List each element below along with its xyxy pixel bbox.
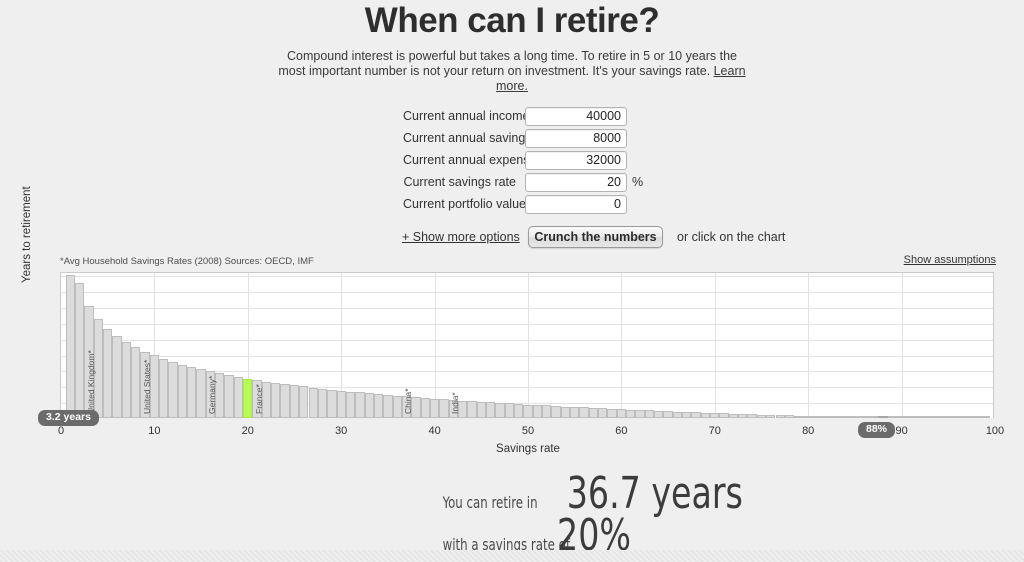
form-row: Current savings rate% [403, 172, 643, 192]
chart-bar[interactable] [271, 383, 280, 418]
chart-bar[interactable] [495, 403, 504, 418]
chart-bar[interactable] [196, 369, 205, 418]
gridline-horizontal [61, 340, 993, 341]
gridline-horizontal [61, 324, 993, 325]
chart-bar[interactable] [374, 394, 383, 418]
intro-text: Compound interest is powerful but takes … [278, 49, 737, 78]
x-tick-label: 10 [134, 425, 174, 437]
chart-bar[interactable] [103, 329, 112, 418]
chart-bar[interactable]: Germany* [215, 373, 224, 418]
gridline-vertical [902, 273, 903, 418]
chart-bar[interactable] [66, 275, 75, 418]
chart-bar[interactable] [916, 416, 925, 418]
result-line-years: You can retire in 36.7 years [432, 473, 1024, 515]
chart-bar[interactable] [878, 416, 887, 418]
chart-bar[interactable]: United States* [150, 355, 159, 418]
gridline-vertical [621, 273, 622, 418]
chart-bar[interactable] [598, 408, 607, 418]
bottom-strip [0, 550, 1024, 562]
x-tick-label: 20 [228, 425, 268, 437]
chart-bar[interactable] [972, 416, 981, 418]
field-input[interactable] [525, 107, 627, 126]
bar-country-label: United Kingdom* [87, 350, 96, 414]
bar-country-label: India* [451, 392, 460, 414]
gridline-horizontal [61, 308, 993, 309]
chart-bar[interactable] [822, 416, 831, 418]
selected-value-badge: 3.2 years [38, 410, 99, 426]
x-tick-label: 60 [601, 425, 641, 437]
chart-bar[interactable] [589, 408, 598, 418]
x-tick-label: 100 [975, 425, 1015, 437]
chart-bar[interactable] [224, 375, 233, 418]
hovered-rate-badge: 88% [858, 422, 895, 438]
form-row: Current annual income [403, 106, 643, 126]
chart-bar[interactable] [131, 347, 140, 418]
chart-bar[interactable] [934, 416, 943, 418]
chart-bar[interactable] [318, 389, 327, 418]
bar-country-label: Germany* [208, 376, 217, 414]
field-label: Current savings rate [403, 175, 525, 189]
chart-bar[interactable] [719, 413, 728, 418]
chart-bar[interactable] [523, 405, 532, 418]
chart-bar[interactable] [168, 362, 177, 418]
chart-bar[interactable] [486, 402, 495, 418]
field-input[interactable] [525, 195, 627, 214]
chart-bar[interactable] [776, 415, 785, 418]
x-tick-label: 80 [788, 425, 828, 437]
chart-bar[interactable] [365, 393, 374, 418]
chart-bar[interactable] [869, 416, 878, 418]
chart-bar[interactable] [159, 359, 168, 418]
field-label: Current portfolio value [403, 197, 525, 211]
chart-bar[interactable] [841, 416, 850, 418]
chart-bar[interactable] [346, 392, 355, 419]
field-label: Current annual expenses [403, 153, 525, 167]
chart-bar[interactable] [290, 385, 299, 418]
chart-source-note: *Avg Household Savings Rates (2008) Sour… [60, 256, 314, 267]
chart-bar[interactable] [337, 391, 346, 418]
retirement-calculator-form: Current annual incomeCurrent annual savi… [0, 106, 1024, 248]
chart-bar[interactable] [663, 411, 672, 418]
bar-country-label: China* [404, 388, 413, 414]
chart-bar[interactable] [112, 336, 121, 418]
chart-bar[interactable] [383, 395, 392, 418]
result-summary: You can retire in 36.7 years with a savi… [0, 473, 1024, 557]
chart-bar[interactable] [794, 416, 803, 418]
chart-bar[interactable] [505, 403, 514, 418]
x-tick-label: 40 [415, 425, 455, 437]
chart-bar[interactable] [729, 414, 738, 418]
field-input[interactable] [525, 151, 627, 170]
chart-bar[interactable] [925, 416, 934, 418]
chart-bar[interactable] [804, 416, 813, 418]
chart-bar[interactable] [542, 405, 551, 418]
chart-bar[interactable] [654, 411, 663, 418]
chart-bar[interactable] [832, 416, 841, 418]
chart-bar[interactable] [785, 415, 794, 418]
show-more-options-link[interactable]: + Show more options [402, 230, 517, 244]
chart-bar[interactable] [187, 367, 196, 418]
chart-bar[interactable] [888, 416, 897, 418]
form-row: Current annual savings [403, 128, 643, 148]
x-tick-label: 0 [41, 425, 81, 437]
x-tick-label: 70 [695, 425, 735, 437]
form-row: Current annual expenses [403, 150, 643, 170]
result-prefix-retire-in: You can retire in [443, 493, 540, 512]
x-tick-label: 30 [321, 425, 361, 437]
chart-bar[interactable] [691, 412, 700, 418]
bar-country-label: France* [255, 384, 264, 414]
chart-hint-text: or click on the chart [677, 230, 785, 244]
form-row: Current portfolio value [403, 194, 643, 214]
chart-bar[interactable] [280, 384, 289, 418]
gridline-horizontal [61, 356, 993, 357]
x-axis-title: Savings rate [61, 443, 995, 455]
chart-bar[interactable] [607, 409, 616, 418]
chart-bar[interactable] [243, 379, 252, 419]
chart-bar[interactable] [551, 406, 560, 418]
chart-bar[interactable] [561, 407, 570, 418]
chart-bar[interactable] [533, 405, 542, 418]
chart-bar[interactable]: India* [458, 401, 467, 418]
percent-sign: % [627, 175, 643, 189]
field-input[interactable] [525, 129, 627, 148]
chart-bar[interactable]: United Kingdom* [94, 319, 103, 418]
chart-bar[interactable] [514, 404, 523, 418]
savings-rate-chart[interactable]: *Avg Household Savings Rates (2008) Sour… [0, 250, 1024, 450]
chart-bar[interactable] [234, 377, 243, 418]
chart-bar[interactable] [421, 398, 430, 418]
chart-bar[interactable] [953, 416, 962, 418]
chart-bar[interactable] [860, 416, 869, 418]
gridline-horizontal [61, 292, 993, 293]
chart-bar[interactable] [467, 401, 476, 418]
chart-bar[interactable] [635, 410, 644, 418]
chart-plot-area[interactable]: United Kingdom*United States*Germany*Fra… [60, 272, 994, 418]
chart-bar[interactable] [981, 416, 990, 418]
chart-bar[interactable] [75, 283, 84, 418]
form-actions: + Show more options Crunch the numbers o… [402, 226, 785, 248]
chart-bar[interactable] [122, 342, 131, 418]
intro-paragraph: Compound interest is powerful but takes … [277, 49, 747, 94]
chart-bar[interactable] [897, 416, 906, 418]
gridline-vertical [435, 273, 436, 418]
chart-bar[interactable] [327, 390, 336, 418]
chart-bar[interactable] [439, 399, 448, 418]
chart-bar[interactable] [393, 396, 402, 418]
chart-bar[interactable] [757, 415, 766, 418]
chart-bar[interactable] [477, 402, 486, 418]
chart-bar[interactable] [626, 410, 635, 418]
gridline-vertical [528, 273, 529, 418]
chart-bar[interactable] [355, 392, 364, 418]
chart-bar[interactable] [962, 416, 971, 418]
chart-bar[interactable] [617, 409, 626, 418]
show-assumptions-link[interactable]: Show assumptions [904, 254, 996, 266]
chart-bar[interactable] [701, 413, 710, 418]
gridline-horizontal [61, 276, 993, 277]
chart-bar[interactable] [747, 414, 756, 418]
chart-bar[interactable] [178, 365, 187, 418]
chart-bar[interactable] [579, 407, 588, 418]
crunch-the-numbers-button[interactable]: Crunch the numbers [528, 226, 663, 248]
chart-bar[interactable] [738, 414, 747, 418]
chart-bar[interactable] [813, 416, 822, 418]
chart-bar[interactable] [673, 412, 682, 419]
form-fields: Current annual incomeCurrent annual savi… [403, 106, 643, 216]
field-input[interactable] [525, 173, 627, 192]
bar-country-label: United States* [143, 360, 152, 414]
chart-bar[interactable]: France* [262, 382, 271, 419]
chart-bar[interactable] [645, 410, 654, 418]
gridline-vertical [715, 273, 716, 418]
x-tick-label: 50 [508, 425, 548, 437]
chart-bar[interactable] [309, 388, 318, 418]
field-label: Current annual income [403, 109, 525, 123]
chart-bar[interactable] [570, 407, 579, 418]
chart-bar[interactable] [766, 415, 775, 418]
chart-bar[interactable] [906, 416, 915, 418]
field-label: Current annual savings [403, 131, 525, 145]
chart-bar[interactable]: China* [411, 397, 420, 418]
chart-bar[interactable] [850, 416, 859, 418]
gridline-vertical [808, 273, 809, 418]
chart-bar[interactable] [299, 386, 308, 418]
result-years-value: 36.7 years [567, 473, 743, 515]
chart-bar[interactable] [944, 416, 953, 418]
chart-bar[interactable] [710, 413, 719, 418]
chart-bar[interactable] [430, 399, 439, 418]
page-title: When can I retire? [0, 0, 1024, 40]
chart-bar[interactable] [682, 412, 691, 418]
